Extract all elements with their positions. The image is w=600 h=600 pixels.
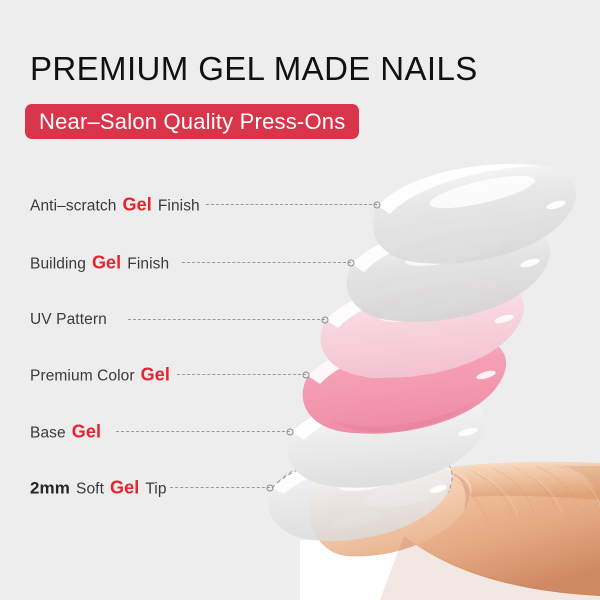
layer-label-text: Gel (138, 365, 170, 385)
layer-label-text: Building (30, 256, 89, 273)
nail-layer-illustration (0, 0, 600, 600)
leader-endpoint-premium-color-gel (303, 372, 310, 379)
layer-label-text: Soft (73, 481, 107, 498)
leader-line-uv-pattern (128, 319, 325, 321)
layer-label-text: Premium Color (30, 368, 138, 385)
layer-label-text: Gel (120, 195, 155, 215)
layer-label-text: Gel (69, 422, 101, 442)
layer-label-text: Gel (89, 253, 124, 273)
infographic-canvas: PREMIUM GEL MADE NAILS Near–Salon Qualit… (0, 0, 600, 600)
layer-label-soft-gel-tip: 2mmSoftGelTip (30, 478, 167, 499)
leader-line-building-gel-finish (182, 262, 351, 264)
leader-endpoint-building-gel-finish (348, 260, 355, 267)
layer-label-text: Finish (124, 256, 169, 273)
layer-label-text: Tip (142, 481, 166, 498)
layer-label-base-gel: BaseGel (30, 422, 101, 443)
page-title: PREMIUM GEL MADE NAILS (30, 50, 478, 88)
leader-endpoint-anti-scratch-gel-finish (374, 202, 381, 209)
leader-line-premium-color-gel (177, 374, 306, 376)
layer-label-text: Base (30, 425, 69, 442)
leader-endpoint-uv-pattern (322, 317, 329, 324)
layer-label-building-gel-finish: BuildingGelFinish (30, 253, 169, 274)
layer-label-text: Anti–scratch (30, 198, 120, 215)
layer-label-text: UV Pattern (30, 311, 107, 328)
leader-line-anti-scratch-gel-finish (206, 204, 377, 206)
leader-endpoint-soft-gel-tip (267, 485, 274, 492)
leader-endpoint-base-gel (287, 429, 294, 436)
layer-label-uv-pattern: UV Pattern (30, 311, 107, 329)
subtitle-badge: Near–Salon Quality Press-Ons (25, 104, 359, 139)
layer-label-anti-scratch-gel-finish: Anti–scratchGelFinish (30, 195, 200, 216)
leader-line-soft-gel-tip (170, 487, 270, 489)
leader-line-base-gel (116, 431, 290, 433)
layer-label-premium-color-gel: Premium ColorGel (30, 365, 170, 386)
layer-label-text: Finish (155, 198, 200, 215)
layer-label-text: Gel (107, 478, 142, 498)
subtitle-badge-label: Near–Salon Quality Press-Ons (39, 109, 345, 135)
layer-label-text: 2mm (30, 479, 73, 498)
